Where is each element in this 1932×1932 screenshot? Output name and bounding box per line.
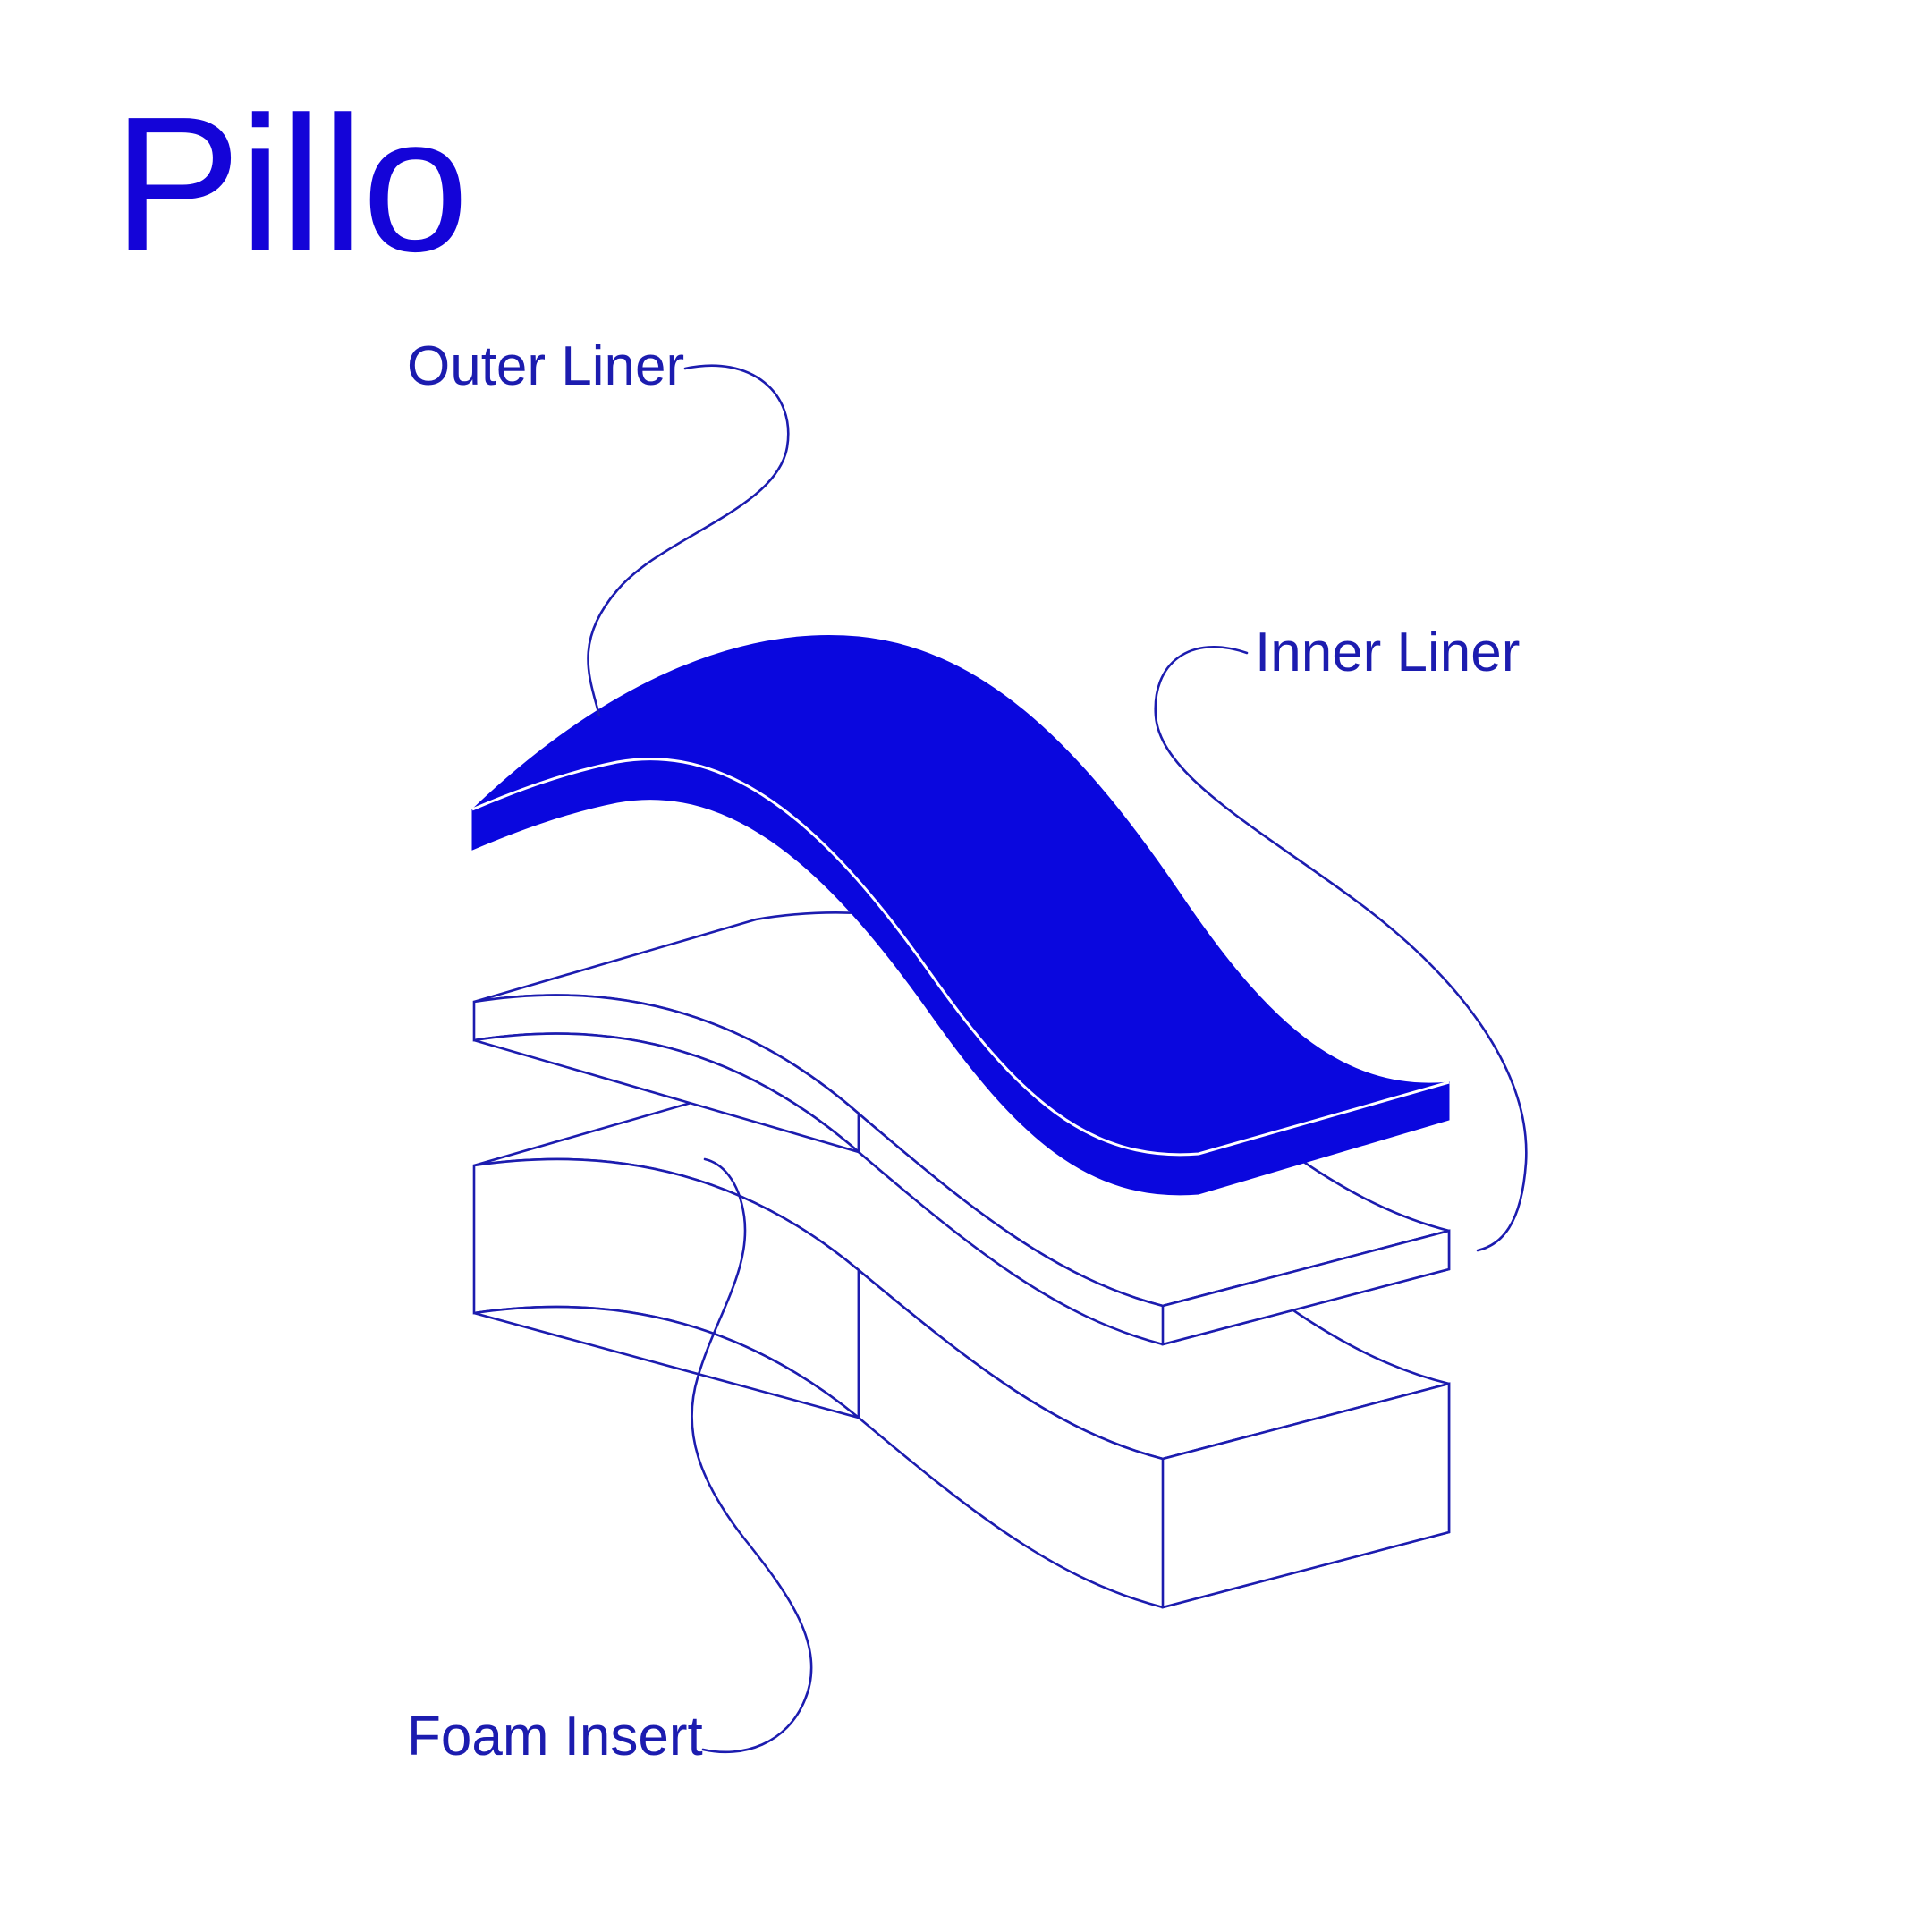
label-foam-insert[interactable]: Foam Insert xyxy=(407,1706,703,1767)
canvas: Pillo xyxy=(0,0,1932,1932)
label-inner-liner[interactable]: Inner Liner xyxy=(1255,622,1520,683)
exploded-layer-diagram: Outer Liner Inner Liner Foam Insert xyxy=(0,0,1932,1932)
label-outer-liner[interactable]: Outer Liner xyxy=(407,335,684,397)
